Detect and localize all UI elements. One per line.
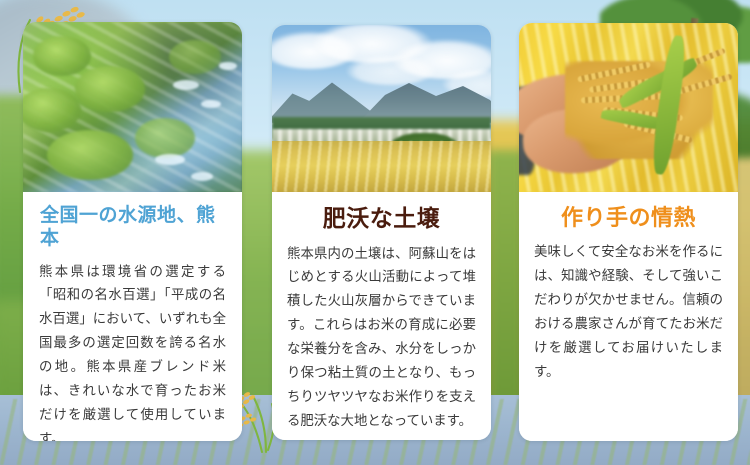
card-text-water-source: 熊本県は環境省の選定する「昭和の名水百選」「平成の名水百選」において、いずれも全…: [39, 260, 226, 441]
card-title-fertile-soil: 肥沃な土壌: [287, 192, 476, 242]
card-body-water-source: 全国一の水源地、熊本 熊本県は環境省の選定する「昭和の名水百選」「平成の名水百選…: [23, 192, 242, 441]
card-body-fertile-soil: 肥沃な土壌 熊本県内の土壌は、阿蘇山をはじめとする火山活動によって堆積した火山灰…: [272, 192, 491, 440]
card-title-growers-passion: 作り手の情熱: [534, 192, 723, 240]
card-title-water-source: 全国一の水源地、熊本: [39, 192, 226, 260]
feature-card-water-source: 全国一の水源地、熊本 熊本県は環境省の選定する「昭和の名水百選」「平成の名水百選…: [23, 22, 242, 441]
card-photo-fertile-soil: [272, 25, 491, 192]
card-photo-water-source: [23, 22, 242, 192]
card-body-growers-passion: 作り手の情熱 美味しくて安全なお米を作るには、知識や経験、そして強いこだわりが欠…: [519, 192, 738, 441]
feature-cards-banner: 全国一の水源地、熊本 熊本県は環境省の選定する「昭和の名水百選」「平成の名水百選…: [0, 0, 750, 465]
card-photo-growers-passion: [519, 23, 738, 192]
feature-card-growers-passion: 作り手の情熱 美味しくて安全なお米を作るには、知識や経験、そして強いこだわりが欠…: [519, 23, 738, 441]
feature-card-fertile-soil: 肥沃な土壌 熊本県内の土壌は、阿蘇山をはじめとする火山活動によって堆積した火山灰…: [272, 25, 491, 440]
card-text-growers-passion: 美味しくて安全なお米を作るには、知識や経験、そして強いこだわりが欠かせません。信…: [534, 240, 723, 383]
card-text-fertile-soil: 熊本県内の土壌は、阿蘇山をはじめとする火山活動によって堆積した火山灰層からできて…: [287, 242, 476, 433]
